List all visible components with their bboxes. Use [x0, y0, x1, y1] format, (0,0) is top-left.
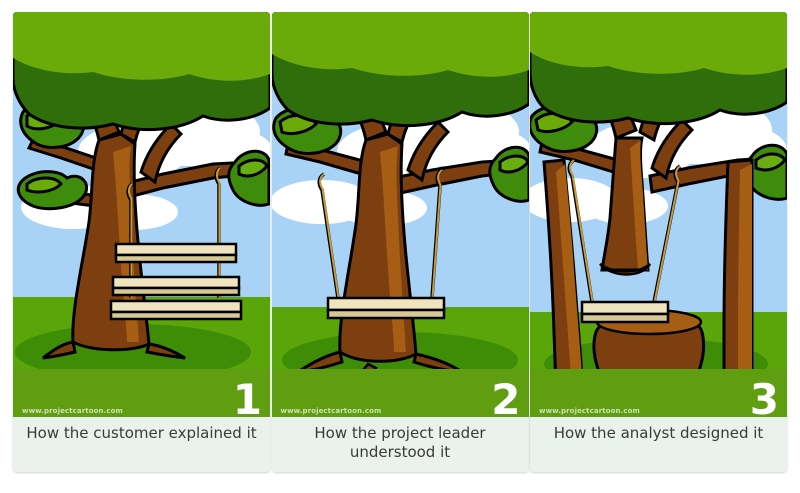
scene-tree-swing-through-trunk: www.projectcartoon.com 2 [272, 12, 529, 417]
plank-top [116, 244, 236, 262]
canopy [13, 12, 270, 130]
cartoon-panel-2[interactable]: www.projectcartoon.com 2 How the project… [272, 12, 529, 472]
panel-2-caption: How the project leader understood it [272, 417, 529, 472]
panel-1-number: 1 [233, 379, 261, 417]
plank-middle [113, 277, 239, 295]
canopy [272, 12, 529, 126]
panel-1-watermark: www.projectcartoon.com [22, 407, 123, 415]
swing-seat [328, 298, 444, 318]
panel-2-banner: www.projectcartoon.com 2 [272, 369, 529, 417]
panel-3-watermark: www.projectcartoon.com [539, 407, 640, 415]
scene-tree-swing-cut-trunk-stump: www.projectcartoon.com 3 [530, 12, 787, 417]
panel-2-illustration [272, 12, 529, 417]
panel-3-caption: How the analyst designed it [530, 417, 787, 472]
panel-1-caption: How the customer explained it [13, 417, 270, 472]
panel-3-banner: www.projectcartoon.com 3 [530, 369, 787, 417]
canopy [530, 12, 787, 124]
swing-planks [111, 244, 241, 319]
cartoon-panel-1[interactable]: www.projectcartoon.com 1 How the custome… [13, 12, 270, 472]
plank-bottom [111, 301, 241, 319]
panel-2-number: 2 [491, 379, 519, 417]
cartoon-panel-3[interactable]: www.projectcartoon.com 3 How the analyst… [530, 12, 787, 472]
scene-tree-swing-three-planks: www.projectcartoon.com 1 [13, 12, 270, 417]
panel-3-number: 3 [750, 379, 778, 417]
panel-3-illustration [530, 12, 787, 417]
swing-seat [582, 302, 668, 322]
cartoon-board: www.projectcartoon.com 1 How the custome… [0, 0, 800, 493]
panel-1-banner: www.projectcartoon.com 1 [13, 369, 270, 417]
panel-1-illustration [13, 12, 270, 417]
panel-2-watermark: www.projectcartoon.com [281, 407, 382, 415]
